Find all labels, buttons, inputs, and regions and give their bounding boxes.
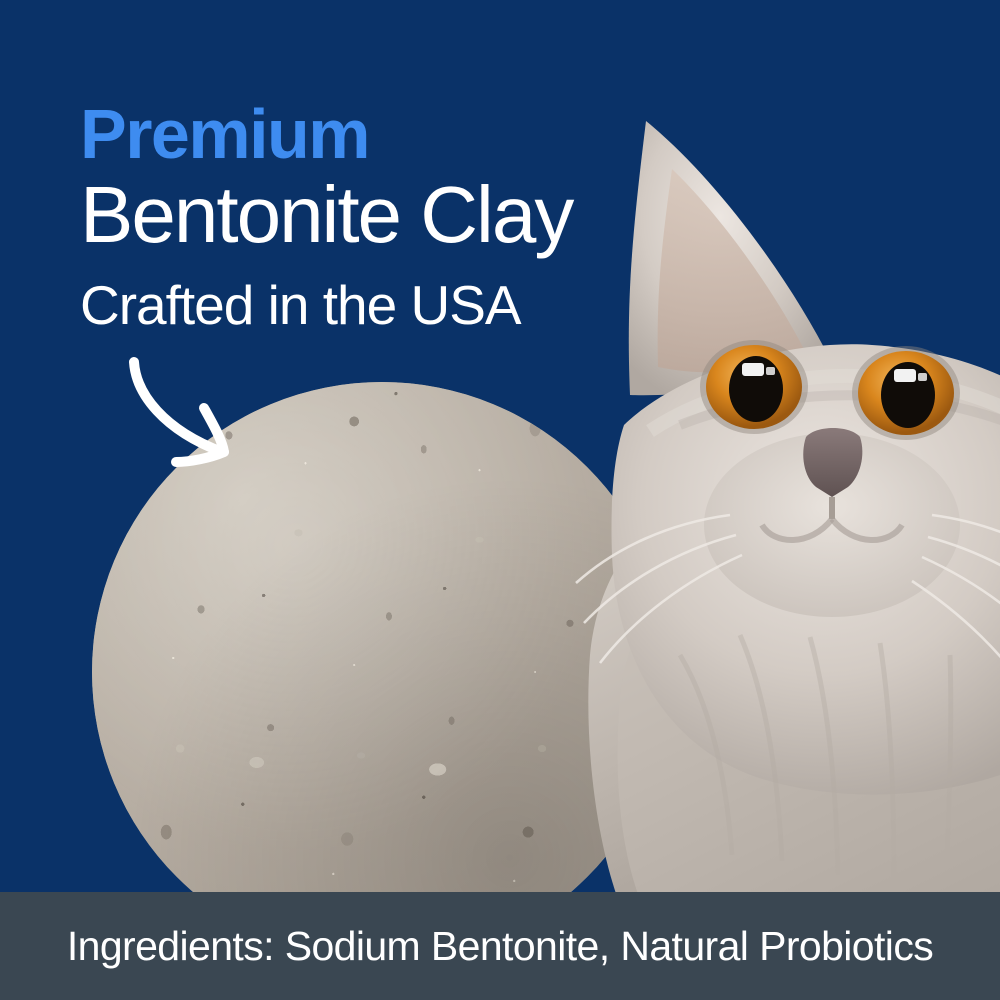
cat-eye-right — [852, 346, 960, 440]
hand-drawn-arrow — [118, 348, 258, 468]
headline-eyebrow: Premium — [80, 96, 700, 172]
ingredients-text: Ingredients: Sodium Bentonite, Natural P… — [67, 923, 933, 970]
headline-subtitle: Crafted in the USA — [80, 274, 700, 336]
product-infographic: Premium Bentonite Clay Crafted in the US… — [0, 0, 1000, 1000]
ingredients-bar: Ingredients: Sodium Bentonite, Natural P… — [0, 892, 1000, 1000]
arrow-head-lower-icon — [176, 452, 224, 462]
headline-block: Premium Bentonite Clay Crafted in the US… — [80, 96, 700, 336]
cat-eye-left — [700, 340, 808, 434]
headline-title: Bentonite Clay — [80, 172, 700, 258]
